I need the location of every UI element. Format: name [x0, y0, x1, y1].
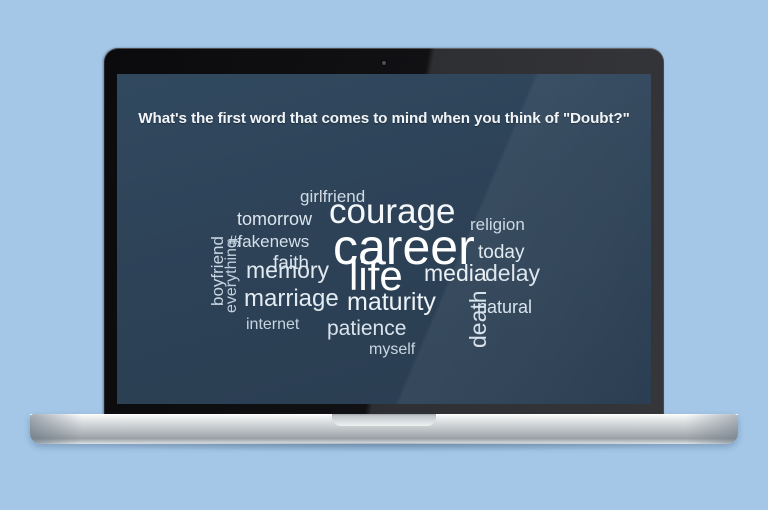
base-front-notch	[332, 414, 436, 426]
base-right-shading	[686, 414, 738, 444]
word-cloud-term: myself	[369, 342, 415, 358]
webcam-icon	[382, 61, 386, 65]
laptop-lid: What's the first word that comes to mind…	[104, 48, 664, 419]
laptop-base	[30, 414, 738, 444]
word-cloud-term: tomorrow	[237, 210, 312, 228]
word-cloud-term: natural	[477, 298, 532, 316]
screenshot-stage: What's the first word that comes to mind…	[0, 0, 768, 510]
word-cloud-term: everything	[224, 239, 240, 313]
word-cloud-term: faith	[273, 254, 309, 273]
word-cloud-term: delay	[485, 262, 540, 285]
word-cloud-term: media	[424, 262, 487, 285]
word-cloud-term: maturity	[347, 290, 436, 315]
word-cloud-term: internet	[246, 317, 299, 333]
laptop-drop-shadow	[52, 443, 716, 452]
laptop-screen: What's the first word that comes to mind…	[117, 74, 651, 404]
word-cloud-term: girlfriend	[300, 188, 365, 205]
word-cloud-term: patience	[327, 318, 406, 339]
word-cloud: careercouragelifematuritymarriagememorym…	[117, 74, 651, 404]
word-cloud-term: #fakenews	[228, 233, 309, 250]
base-left-shading	[30, 414, 82, 444]
word-cloud-term: today	[478, 243, 524, 262]
word-cloud-term: religion	[470, 216, 525, 233]
word-cloud-term: marriage	[244, 287, 339, 311]
